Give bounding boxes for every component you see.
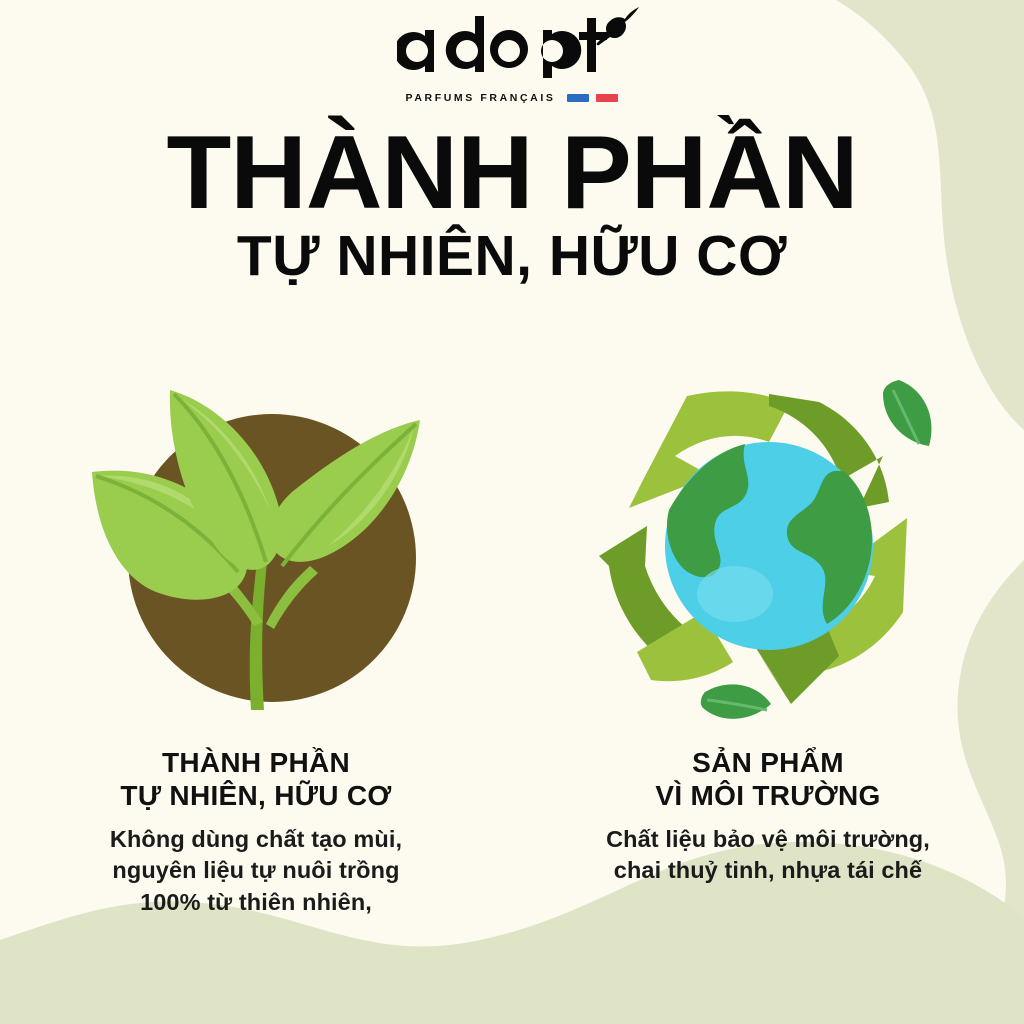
- earth-highlight: [697, 566, 773, 622]
- feature-column-natural-ingredients: THÀNH PHẦN TỰ NHIÊN, HỮU CƠ Không dùng c…: [0, 360, 512, 960]
- column-body-line: nguyên liệu tự nuôi trồng: [110, 855, 402, 886]
- floating-leaf-top-right: [883, 380, 931, 446]
- column-body-eco-product: Chất liệu bảo vệ môi trường, chai thuỷ t…: [606, 824, 930, 887]
- recycle-earth-illustration: [512, 360, 1024, 730]
- logo-mark: [397, 20, 627, 98]
- column-title-line: SẢN PHẨM: [655, 746, 880, 779]
- column-body-natural-ingredients: Không dùng chất tạo mùi, nguyên liệu tự …: [110, 824, 402, 918]
- column-title-line: THÀNH PHẦN: [120, 746, 391, 779]
- floating-leaf-bottom: [701, 684, 771, 718]
- adopt-wordmark-icon: [397, 16, 627, 78]
- recycle-earth-icon: [583, 360, 953, 730]
- earth-globe: [665, 442, 873, 650]
- column-body-line: 100% từ thiên nhiên,: [110, 887, 402, 918]
- hummingbird-icon: [595, 6, 641, 46]
- column-body-line: Không dùng chất tạo mùi,: [110, 824, 402, 855]
- page-title: THÀNH PHẦN: [0, 125, 1024, 222]
- column-title-eco-product: SẢN PHẨM VÌ MÔI TRƯỜNG: [655, 746, 880, 812]
- column-title-natural-ingredients: THÀNH PHẦN TỰ NHIÊN, HỮU CƠ: [120, 746, 391, 812]
- feature-columns: THÀNH PHẦN TỰ NHIÊN, HỮU CƠ Không dùng c…: [0, 360, 1024, 960]
- headline-block: THÀNH PHẦN TỰ NHIÊN, HỮU CƠ: [0, 125, 1024, 285]
- plant-sprout-icon: [76, 380, 436, 710]
- plant-sprout-illustration: [0, 360, 512, 730]
- feature-column-eco-product: SẢN PHẨM VÌ MÔI TRƯỜNG Chất liệu bảo vệ …: [512, 360, 1024, 960]
- poster-canvas: PARFUMS FRANÇAIS THÀNH PHẦN TỰ NHIÊN, HỮ…: [0, 0, 1024, 1024]
- column-title-line: VÌ MÔI TRƯỜNG: [655, 779, 880, 812]
- brand-logo: PARFUMS FRANÇAIS: [0, 20, 1024, 120]
- column-body-line: Chất liệu bảo vệ môi trường,: [606, 824, 930, 855]
- column-title-line: TỰ NHIÊN, HỮU CƠ: [120, 779, 391, 812]
- page-subtitle: TỰ NHIÊN, HỮU CƠ: [0, 228, 1024, 285]
- column-body-line: chai thuỷ tinh, nhựa tái chế: [606, 855, 930, 886]
